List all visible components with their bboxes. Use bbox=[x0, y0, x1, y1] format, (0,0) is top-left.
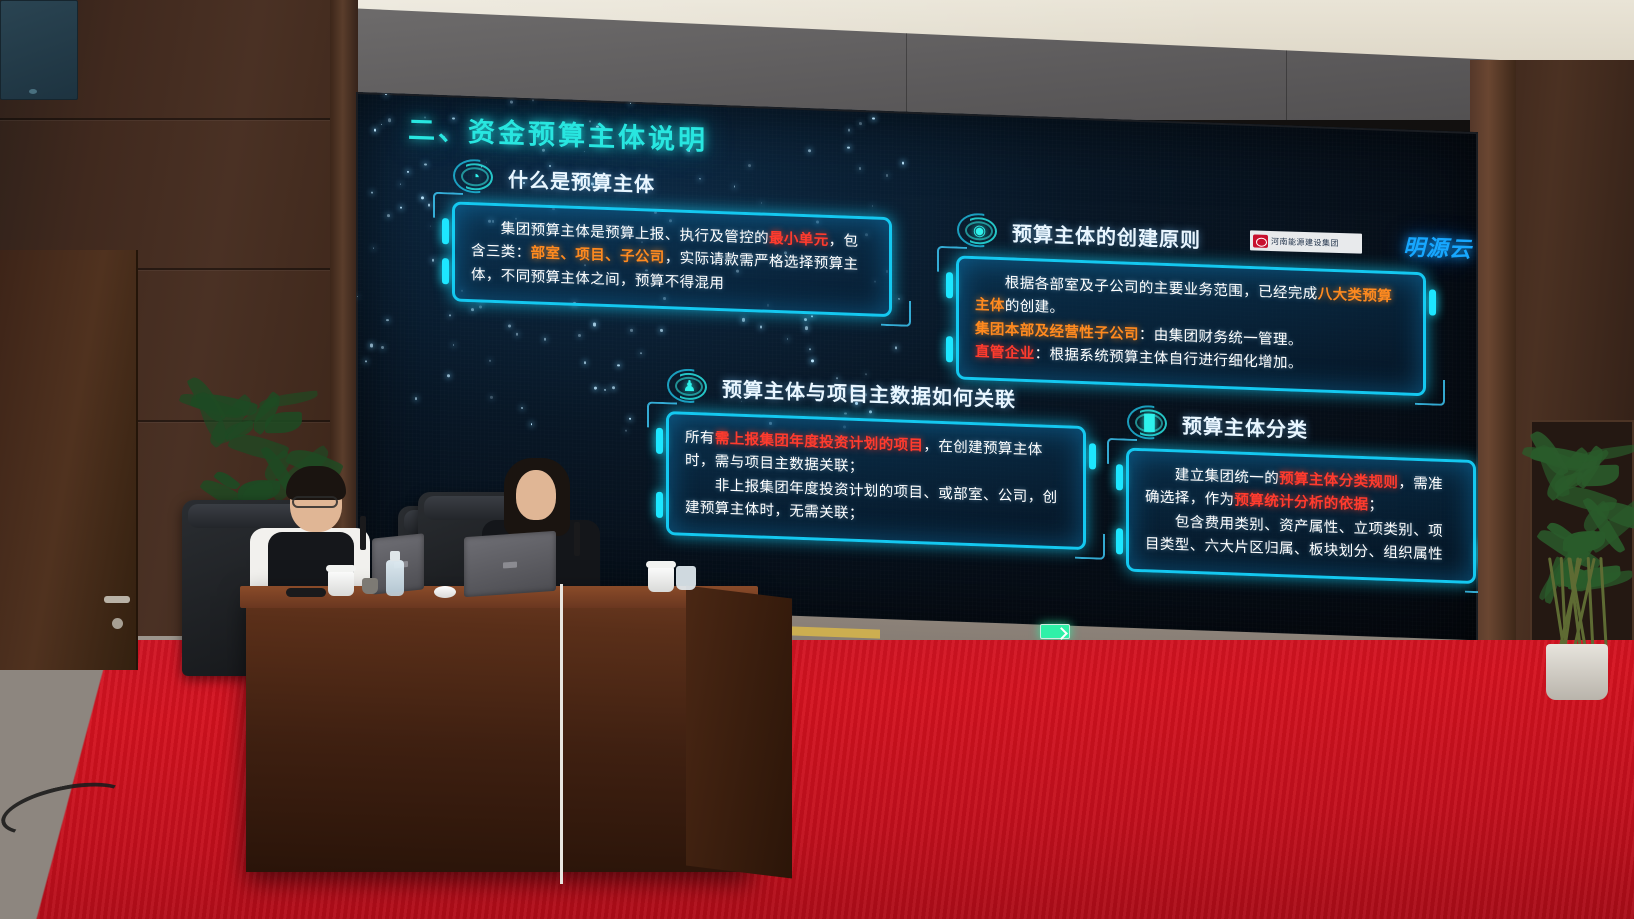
table-side bbox=[686, 585, 792, 878]
plant-pot bbox=[1546, 644, 1608, 700]
block-text: 集团预算主体是预算上报、执行及管控的最小单元，包含三类：部室、项目、子公司，实际… bbox=[471, 217, 873, 302]
conference-room-scene: 二、资金预算主体说明 河南能源建设集团 明源云 ◔ 什么是预算主体 集团预算主体… bbox=[0, 0, 1634, 919]
small-cup bbox=[362, 578, 378, 594]
carpet-edge bbox=[0, 640, 250, 919]
target-icon: ◉ bbox=[956, 209, 1002, 251]
block-heading: 预算主体分类 bbox=[1182, 409, 1308, 443]
mouse-left[interactable] bbox=[286, 588, 326, 597]
block-text-line: 集团预算主体是预算上报、执行及管控的最小单元，包含三类：部室、项目、子公司，实际… bbox=[471, 217, 873, 302]
door-lock-icon bbox=[112, 618, 123, 629]
saucer bbox=[434, 586, 456, 598]
block-text: 根据各部室及子公司的主要业务范围，已经完成八大类预算主体的创建。集团本部及经营性… bbox=[975, 271, 1407, 380]
block-text: 所有需上报集团年度投资计划的项目，在创建预算主体时，需与项目主数据关联； 非上报… bbox=[685, 427, 1067, 535]
block-body-panel: 集团预算主体是预算上报、执行及管控的最小单元，包含三类：部室、项目、子公司，实际… bbox=[452, 201, 892, 317]
tea-cup-right bbox=[648, 566, 674, 592]
person-left-glasses-icon bbox=[292, 496, 338, 508]
plant-leaf bbox=[1578, 444, 1634, 463]
block-text: 建立集团统一的预算主体分类规则，需准确选择，作为预算统计分析的依据； 包含费用类… bbox=[1145, 463, 1457, 568]
slide-block-entity-classification: █ 预算主体分类 建立集团统一的预算主体分类规则，需准确选择，作为预算统计分析的… bbox=[1126, 402, 1476, 584]
block-body-panel: 根据各部室及子公司的主要业务范围，已经完成八大类预算主体的创建。集团本部及经营性… bbox=[956, 255, 1426, 396]
block-heading: 什么是预算主体 bbox=[508, 163, 655, 197]
bar-chart-icon: █ bbox=[1126, 402, 1172, 444]
glass bbox=[676, 566, 696, 590]
block-text-line: 包含费用类别、资产属性、立项类别、项目类型、六大片区归属、板块划分、组织属性 bbox=[1145, 510, 1457, 568]
door-handle-icon[interactable] bbox=[104, 596, 130, 603]
microphone-left bbox=[360, 516, 366, 550]
plant-leaf bbox=[258, 390, 318, 409]
potted-plant-right bbox=[1520, 440, 1634, 700]
person-right-face bbox=[516, 470, 556, 520]
block-body-panel: 所有需上报集团年度投资计划的项目，在创建预算主体时，需与项目主数据关联； 非上报… bbox=[666, 411, 1086, 550]
microphone-right bbox=[574, 522, 580, 556]
tea-cup-left bbox=[328, 570, 354, 596]
ceiling-speaker bbox=[0, 0, 78, 100]
water-bottle bbox=[386, 560, 404, 596]
slide-block-relation-to-project-master-data: ♟ 预算主体与项目主数据如何关联 所有需上报集团年度投资计划的项目，在创建预算主… bbox=[666, 365, 1086, 550]
block-heading: 预算主体的创建原则 bbox=[1012, 217, 1201, 253]
slide-block-creation-principles: ◉ 预算主体的创建原则 根据各部室及子公司的主要业务范围，已经完成八大类预算主体… bbox=[956, 209, 1426, 396]
block-body-panel: 建立集团统一的预算主体分类规则，需准确选择，作为预算统计分析的依据； 包含费用类… bbox=[1126, 448, 1476, 584]
clock-icon: ◔ bbox=[452, 155, 498, 197]
side-door[interactable] bbox=[0, 250, 138, 670]
people-icon: ♟ bbox=[666, 365, 712, 407]
exit-sign bbox=[1040, 624, 1070, 639]
block-heading: 预算主体与项目主数据如何关联 bbox=[722, 373, 1016, 413]
slide-block-what-is-budget-entity: ◔ 什么是预算主体 集团预算主体是预算上报、执行及管控的最小单元，包含三类：部室… bbox=[452, 155, 892, 317]
laptop-right[interactable] bbox=[464, 531, 556, 597]
presenter-table bbox=[246, 586, 752, 872]
